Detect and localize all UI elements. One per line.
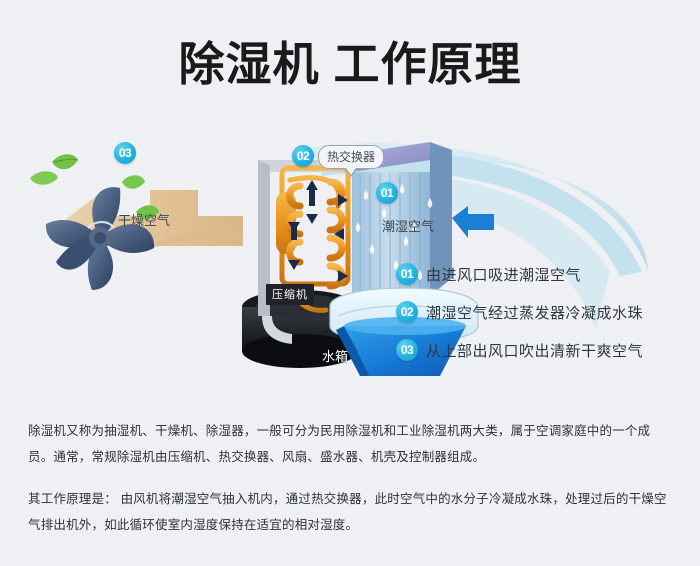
- step-item: 03 从上部出风口吹出清新干爽空气: [396, 331, 696, 369]
- badge-02-diagram: 02: [292, 145, 314, 167]
- tag-compressor: 压缩机: [266, 284, 314, 305]
- fan: [46, 187, 154, 290]
- step-item: 02 潮湿空气经过蒸发器冷凝成水珠: [396, 293, 696, 331]
- step-text-03: 从上部出风口吹出清新干爽空气: [426, 340, 643, 361]
- description-block: 除湿机又称为抽湿机、干燥机、除湿器，一般可分为民用除湿机和工业除湿机两大类，属于…: [28, 418, 674, 538]
- step-text-01: 由进风口吸进潮湿空气: [426, 264, 581, 285]
- description-paragraph-2: 其工作原理是： 由风机将潮湿空气抽入机内，通过热交换器，此时空气中的水分子冷凝成…: [28, 486, 674, 538]
- description-paragraph-1: 除湿机又称为抽湿机、干燥机、除湿器，一般可分为民用除湿机和工业除湿机两大类，属于…: [28, 418, 674, 470]
- label-humid-air: 潮湿空气: [382, 216, 434, 235]
- page-root: 除湿机工作原理: [0, 0, 700, 566]
- step-text-02: 潮湿空气经过蒸发器冷凝成水珠: [426, 302, 643, 323]
- tag-water-tank: 水箱: [322, 346, 348, 365]
- page-title-part1: 除湿机: [179, 38, 320, 90]
- step-item: 01 由进风口吸进潮湿空气: [396, 255, 696, 293]
- page-title: 除湿机工作原理: [0, 34, 700, 94]
- page-title-part2: 工作原理: [334, 38, 522, 90]
- callout-heat-exchanger: 热交换器: [318, 145, 384, 169]
- step-badge-03: 03: [396, 339, 418, 361]
- badge-03-diagram: 03: [114, 142, 136, 164]
- step-list: 01 由进风口吸进潮湿空气 02 潮湿空气经过蒸发器冷凝成水珠 03 从上部出风…: [396, 255, 696, 369]
- badge-01-diagram: 01: [376, 182, 398, 204]
- label-dry-air: 干燥空气: [118, 210, 170, 229]
- step-badge-02: 02: [396, 301, 418, 323]
- step-badge-01: 01: [396, 263, 418, 285]
